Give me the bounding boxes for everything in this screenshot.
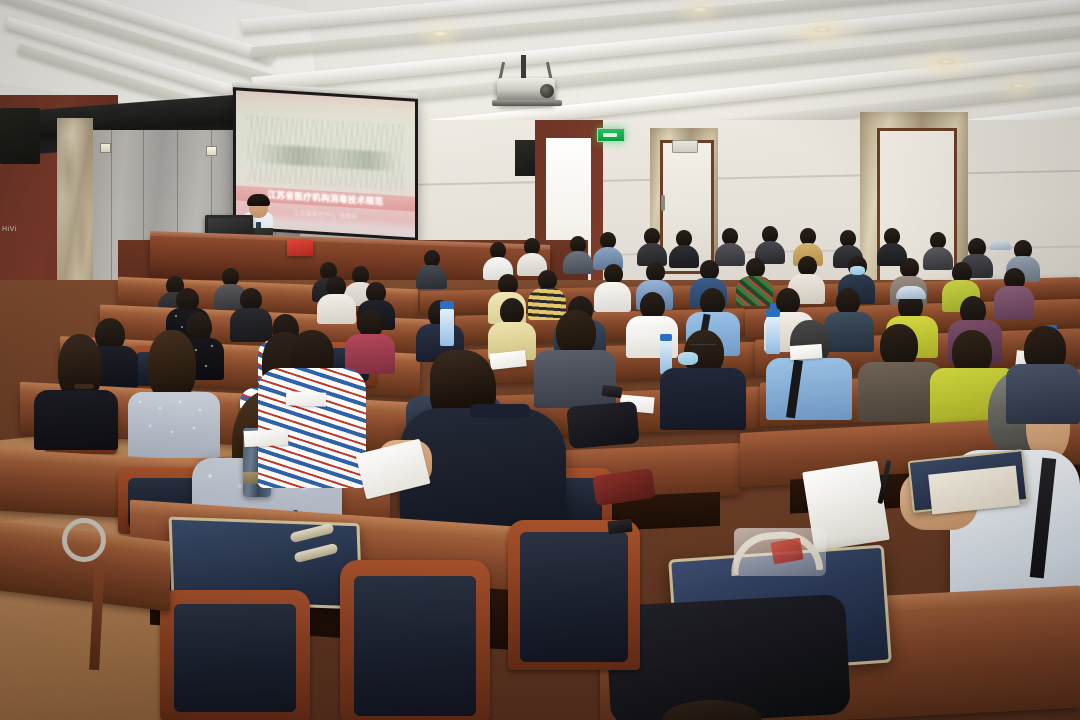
wall-light [206, 146, 217, 156]
ceiling-spot-light [1008, 82, 1028, 89]
attendee-torso [669, 245, 699, 268]
handout-paper[interactable] [286, 391, 326, 406]
ceiling-spot-light [936, 58, 956, 65]
attendee-torso [594, 282, 631, 312]
red-podium-box [287, 240, 313, 256]
chair-pad [354, 576, 476, 716]
wall-light [100, 143, 111, 153]
attendee-torso [923, 247, 953, 270]
projector-lens-icon [540, 84, 554, 98]
handbag-handle [62, 518, 106, 562]
black-shoulder-bag [566, 401, 639, 449]
presenter-hair [247, 194, 270, 206]
face-mask [850, 266, 865, 275]
water-bottle [766, 316, 780, 354]
attendee-head [500, 298, 524, 325]
conference-hall-photo: HiVi 江苏省医疗机构消毒技术规范 江苏省疾控中心 消毒科 [0, 0, 1080, 720]
attendee-torso [736, 276, 773, 306]
speaker-brand-label: HiVi [2, 226, 30, 233]
bottle-cap-icon [766, 309, 780, 317]
bottle-cap-icon [660, 334, 672, 341]
attendee-torso [994, 286, 1034, 320]
handout-paper[interactable] [790, 344, 823, 360]
polo-collar [470, 404, 530, 418]
attendee-torso [345, 334, 395, 374]
attendee-torso [34, 390, 118, 450]
attendee-torso [128, 392, 220, 458]
door-handle[interactable] [661, 195, 665, 211]
attendee-torso [528, 288, 566, 320]
attendee-head [836, 288, 860, 315]
chair-pad [520, 532, 628, 662]
cap-hat [896, 286, 926, 299]
cap-hat [990, 240, 1011, 250]
attendee-torso [563, 251, 593, 274]
bracelet [74, 384, 94, 389]
attendee-torso [258, 368, 366, 488]
ceiling-spot-light [690, 6, 710, 13]
ceiling-light-glow [760, 18, 880, 48]
handout-paper[interactable] [244, 429, 289, 447]
ceiling-light-glow [880, 50, 1000, 80]
ceiling-spot-light [430, 30, 450, 37]
attendee-torso [715, 243, 745, 266]
door-sign-plate [672, 140, 698, 153]
smartphone[interactable] [607, 519, 632, 534]
attendee-torso [317, 294, 356, 324]
projector-plate [492, 100, 562, 106]
attendee-head [538, 270, 557, 290]
chair-pad [174, 604, 296, 712]
attendee-torso [230, 308, 272, 342]
bottle-cap-icon [440, 301, 454, 309]
ceiling-spot-light [812, 26, 832, 33]
attendee-torso [416, 265, 447, 289]
eyeglasses-icon [690, 344, 716, 349]
face-mask [678, 352, 698, 365]
attendee-torso [824, 312, 874, 352]
exit-sign [597, 128, 625, 142]
wall-speaker-left: HiVi [0, 108, 40, 164]
attendee-head [900, 258, 919, 278]
attendee-torso [766, 358, 852, 420]
attendee-head [700, 260, 719, 280]
attendee-head [746, 258, 765, 278]
attendee-torso [534, 350, 616, 408]
attendee-head [646, 262, 665, 282]
attendee-head [798, 256, 817, 276]
attendee-torso [660, 368, 746, 430]
attendee-head [604, 264, 623, 284]
attendee-torso [1006, 364, 1080, 424]
water-bottle [440, 308, 454, 346]
